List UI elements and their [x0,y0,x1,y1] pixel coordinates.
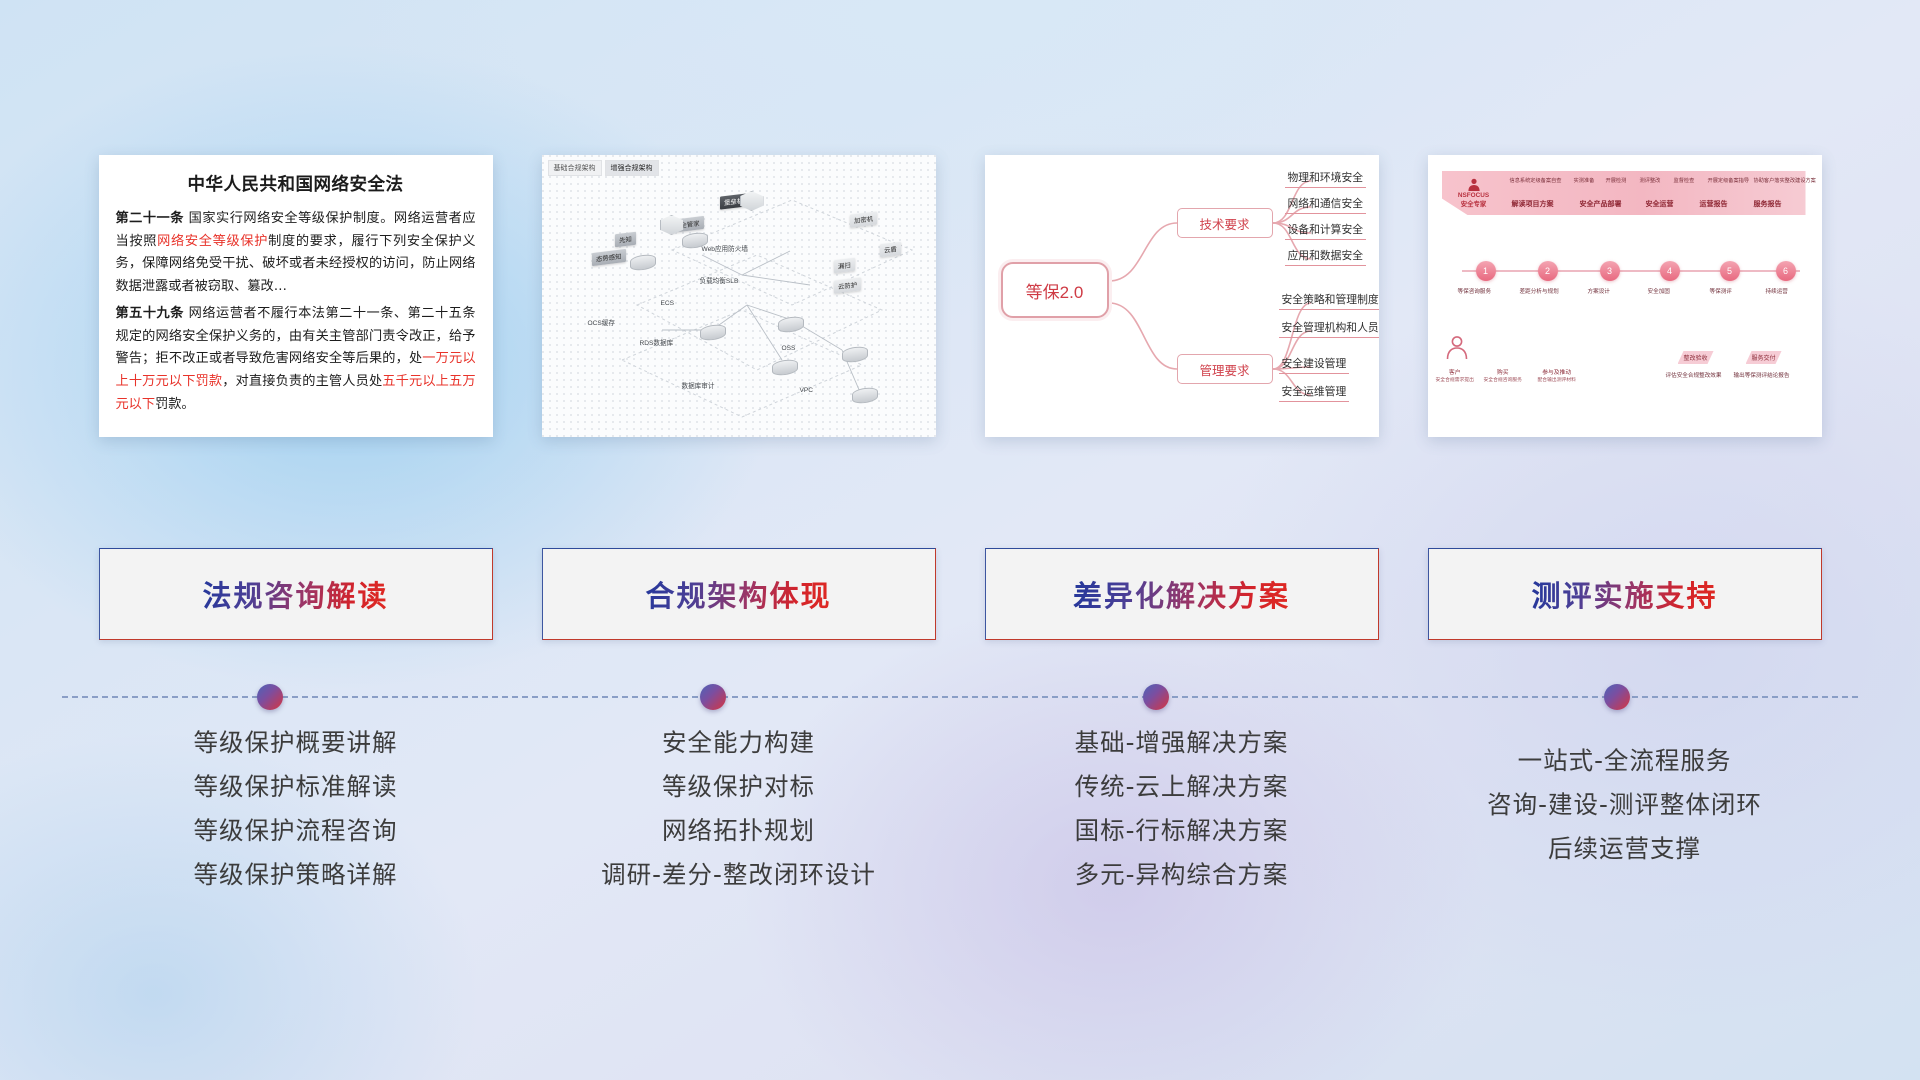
section-list-3: 基础-增强解决方案 传统-云上解决方案 国标-行标解决方案 多元-异构综合方案 [985,730,1379,889]
flow-person-purchase: 购买 安全合规咨询服务 [1484,367,1522,383]
arch-label-ocs: OCS缓存 [588,317,615,327]
timeline-dot-2[interactable] [700,684,726,710]
flow-tag-delivery-sub: 输出等保测评结论报告 [1734,371,1790,379]
flow-person-customer-sub: 安全合规需求提出 [1436,376,1474,383]
flow-chip-6: 持续运营 [1766,287,1788,295]
mindmap-leaf-org-personnel: 安全管理机构和人员 [1279,319,1379,338]
section-list-1: 等级保护概要讲解 等级保护标准解读 等级保护流程咨询 等级保护策略详解 [99,730,493,889]
mindmap-leaf-app-data: 应用和数据安全 [1285,247,1367,266]
mindmap-branch-technical: 技术要求 [1177,208,1273,238]
flow-tag-acceptance: 整改验收 [1678,351,1714,364]
arch-label-db-audit: 数据库审计 [682,380,715,390]
flow-person-participate-sub: 配合输出测评材料 [1538,376,1576,383]
arch-node-yundun: 云盾 [880,242,901,258]
arch-label-oss: OSS [782,345,796,352]
flow-person-customer-title: 客户 [1436,367,1474,376]
mindmap-leaf-policy-system: 安全策略和管理制度 [1279,291,1379,310]
mindmap-leaf-device-compute: 设备和计算安全 [1285,221,1367,240]
mindmap-canvas: 等保2.0 技术要求 管理要求 物理和环境安全 网络和通信安全 设备和计算安全 … [985,155,1379,437]
list-item: 调研-差分-整改闭环设计 [601,862,876,889]
slide-root: 中华人民共和国网络安全法 第二十一条 国家实行网络安全等级保护制度。网络运营者应… [0,0,1920,1080]
law-article-21: 第二十一条 国家实行网络安全等级保护制度。网络运营者应当按照网络安全等级保护制度… [116,208,476,299]
flow-step-line [1428,155,1822,437]
law-article-59-label: 第五十九条 [116,306,184,321]
arch-node-scanner: 漏扫 [834,258,855,274]
flow-person-participate: 参与及推动 配合输出测评材料 [1538,367,1576,383]
section-list-2: 安全能力构建 等级保护对标 网络拓扑规划 调研-差分-整改闭环设计 [542,730,936,889]
timeline-dot-1[interactable] [257,684,283,710]
law-article-59: 第五十九条 网络运营者不履行本法第二十一条、第二十五条规定的网络安全保护义务的，… [116,303,476,417]
flow-chip-2: 差距分析与规划 [1520,287,1559,295]
list-item: 安全能力构建 [662,730,815,757]
law-article-21-highlight: 网络安全等级保护 [157,234,268,249]
arch-label-slb: 负载均衡SLB [700,275,739,285]
flow-person-participate-title: 参与及推动 [1538,367,1576,376]
flow-person-customer: 客户 安全合规需求提出 [1436,367,1474,383]
customer-person-icon [1444,335,1470,361]
card-architecture-diagram[interactable]: 基础合规架构 增强合规架构 [542,155,936,437]
law-document-body: 中华人民共和国网络安全法 第二十一条 国家实行网络安全等级保护制度。网络运营者应… [99,155,493,430]
flow-step-6: 6 [1776,261,1796,281]
mindmap-root-node: 等保2.0 [1001,262,1109,318]
flow-step-2: 2 [1538,261,1558,281]
list-item: 基础-增强解决方案 [1075,730,1289,757]
list-item: 等级保护流程咨询 [194,818,398,845]
flow-tag-acceptance-sub: 评估安全合规整改效果 [1666,371,1722,379]
flow-step-3: 3 [1600,261,1620,281]
flow-chip-3: 方案设计 [1588,287,1610,295]
timeline-dot-4[interactable] [1604,684,1630,710]
section-list-4: 一站式-全流程服务 咨询-建设-测评整体闭环 后续运营支撑 [1428,730,1822,889]
arch-label-rds: RDS数据库 [640,337,674,347]
mindmap-leaf-construction-mgmt: 安全建设管理 [1279,355,1350,374]
flow-step-1: 1 [1476,261,1496,281]
service-flow-canvas: NSFOCUS 安全专家 信息系统定级备案自查 实测准备 开展检测 测评整改 监… [1428,155,1822,437]
card-law-document[interactable]: 中华人民共和国网络安全法 第二十一条 国家实行网络安全等级保护制度。网络运营者应… [99,155,493,437]
list-item: 等级保护策略详解 [194,862,398,889]
arch-label-waf: Web应用防火墙 [702,243,748,253]
list-item: 咨询-建设-测评整体闭环 [1487,792,1762,819]
mindmap-branch-management: 管理要求 [1177,354,1273,384]
flow-person-purchase-title: 购买 [1484,367,1522,376]
list-item: 传统-云上解决方案 [1075,774,1289,801]
list-item: 后续运营支撑 [1548,836,1701,863]
list-item: 多元-异构综合方案 [1075,862,1289,889]
timeline-dot-3[interactable] [1143,684,1169,710]
list-item: 国标-行标解决方案 [1075,818,1289,845]
section-label-text-2: 合规架构体现 [645,573,831,615]
flow-chip-4: 安全加固 [1648,287,1670,295]
list-item: 等级保护概要讲解 [194,730,398,757]
timeline [0,660,1920,720]
arch-label-vpc: VPC [800,387,814,394]
law-article-21-label: 第二十一条 [116,211,184,226]
section-label-box-4[interactable]: 测评实施支持 [1428,548,1822,640]
mindmap-leaf-physical-env: 物理和环境安全 [1285,169,1367,188]
mindmap-leaf-ops-mgmt: 安全运维管理 [1279,383,1350,402]
arch-label-ecs: ECS [661,300,675,307]
section-label-text-3: 差异化解决方案 [1073,573,1290,615]
section-label-box-1[interactable]: 法规咨询解读 [99,548,493,640]
law-title: 中华人民共和国网络安全法 [116,171,476,196]
law-article-59-text-b: ，对直接负责的主管人员处 [222,374,382,389]
section-label-row: 法规咨询解读 合规架构体现 差异化解决方案 测评实施支持 [0,548,1920,642]
flow-tag-delivery: 服务交付 [1746,351,1782,364]
timeline-dashed-line [62,696,1858,698]
section-label-text-4: 测评实施支持 [1531,573,1717,615]
card-mindmap[interactable]: 等保2.0 技术要求 管理要求 物理和环境安全 网络和通信安全 设备和计算安全 … [985,155,1379,437]
list-item: 网络拓扑规划 [662,818,815,845]
flow-person-purchase-sub: 安全合规咨询服务 [1484,376,1522,383]
mindmap-leaf-network-comm: 网络和通信安全 [1285,195,1367,214]
screenshot-card-row: 中华人民共和国网络安全法 第二十一条 国家实行网络安全等级保护制度。网络运营者应… [0,155,1920,445]
law-article-59-text-c: 罚款。 [155,397,195,412]
list-item: 等级保护标准解读 [194,774,398,801]
card-service-flow[interactable]: NSFOCUS 安全专家 信息系统定级备案自查 实测准备 开展检测 测评整改 监… [1428,155,1822,437]
section-list-row: 等级保护概要讲解 等级保护标准解读 等级保护流程咨询 等级保护策略详解 安全能力… [0,730,1920,889]
architecture-canvas: 基础合规架构 增强合规架构 [542,155,936,437]
list-item: 一站式-全流程服务 [1518,748,1732,775]
list-item: 等级保护对标 [662,774,815,801]
flow-step-4: 4 [1660,261,1680,281]
section-label-box-2[interactable]: 合规架构体现 [542,548,936,640]
arch-node-xianzhi: 先知 [615,232,636,248]
flow-chip-1: 等保咨询服务 [1458,287,1492,295]
flow-step-5: 5 [1720,261,1740,281]
section-label-text-1: 法规咨询解读 [202,573,388,615]
flow-chip-5: 等保测评 [1710,287,1732,295]
section-label-box-3[interactable]: 差异化解决方案 [985,548,1379,640]
